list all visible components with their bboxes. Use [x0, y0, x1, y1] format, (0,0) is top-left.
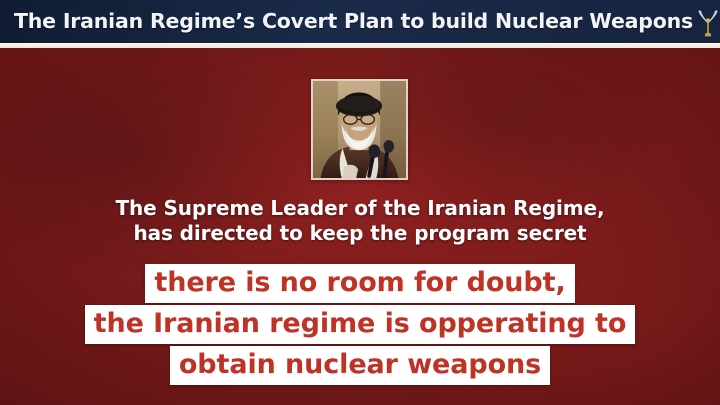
slide-header: The Iranian Regime’s Covert Plan to buil…: [0, 0, 720, 43]
header-icon-group: [693, 6, 720, 38]
quote-block: there is no room for doubt, the Iranian …: [0, 264, 720, 387]
quote-row: there is no room for doubt,: [0, 264, 720, 305]
subtitle-line-1: The Supreme Leader of the Iranian Regime…: [0, 196, 720, 221]
quote-line-2: the Iranian regime is opperating to: [85, 305, 636, 344]
quote-line-1: there is no room for doubt,: [145, 264, 574, 303]
quote-line-3: obtain nuclear weapons: [170, 346, 550, 385]
quote-row: the Iranian regime is opperating to: [0, 305, 720, 346]
supreme-leader-portrait: [311, 79, 408, 180]
header-divider: [0, 43, 720, 48]
quote-row: obtain nuclear weapons: [0, 346, 720, 387]
broadcast-antenna-icon: [693, 6, 720, 38]
subtitle-line-2: has directed to keep the program secret: [0, 221, 720, 246]
page-title: The Iranian Regime’s Covert Plan to buil…: [14, 11, 693, 32]
subtitle-block: The Supreme Leader of the Iranian Regime…: [0, 196, 720, 246]
presentation-slide: The Iranian Regime’s Covert Plan to buil…: [0, 0, 720, 405]
